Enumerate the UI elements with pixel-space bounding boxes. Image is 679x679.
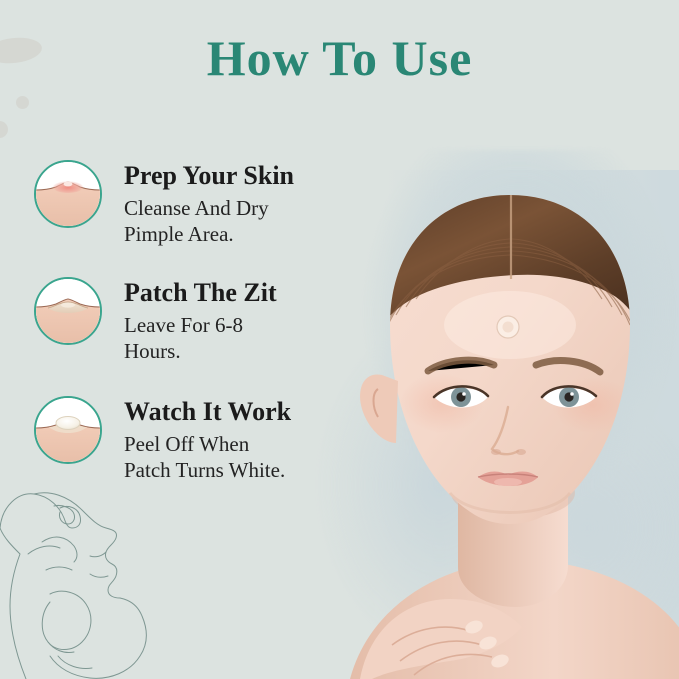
small-dot-decoration xyxy=(16,96,29,109)
step-text-block: Prep Your Skin Cleanse And Dry Pimple Ar… xyxy=(124,160,294,247)
patch-turned-white-icon xyxy=(34,396,102,464)
step-body: Leave For 6-8 Hours. xyxy=(124,312,277,365)
edge-dot-decoration xyxy=(0,121,8,138)
model-photo xyxy=(330,175,679,679)
patch-applied-icon xyxy=(34,277,102,345)
step-body: Cleanse And Dry Pimple Area. xyxy=(124,195,294,248)
page-title: How To Use xyxy=(0,33,679,83)
step-heading: Watch It Work xyxy=(124,398,291,427)
step-heading: Patch The Zit xyxy=(124,279,277,308)
step-text-block: Patch The Zit Leave For 6-8 Hours. xyxy=(124,277,277,364)
step-heading: Prep Your Skin xyxy=(124,162,294,191)
step-item: Prep Your Skin Cleanse And Dry Pimple Ar… xyxy=(34,160,294,247)
watercolor-edge-wash xyxy=(379,170,679,679)
how-to-use-poster: How To Use xyxy=(0,0,679,679)
watercolor-wash xyxy=(299,150,679,679)
pimple-bump-icon xyxy=(34,160,102,228)
step-item: Watch It Work Peel Off When Patch Turns … xyxy=(34,396,291,483)
step-text-block: Watch It Work Peel Off When Patch Turns … xyxy=(124,396,291,483)
step-body: Peel Off When Patch Turns White. xyxy=(124,431,291,484)
woman-face-profile-line-art xyxy=(0,484,208,679)
step-item: Patch The Zit Leave For 6-8 Hours. xyxy=(34,277,277,364)
